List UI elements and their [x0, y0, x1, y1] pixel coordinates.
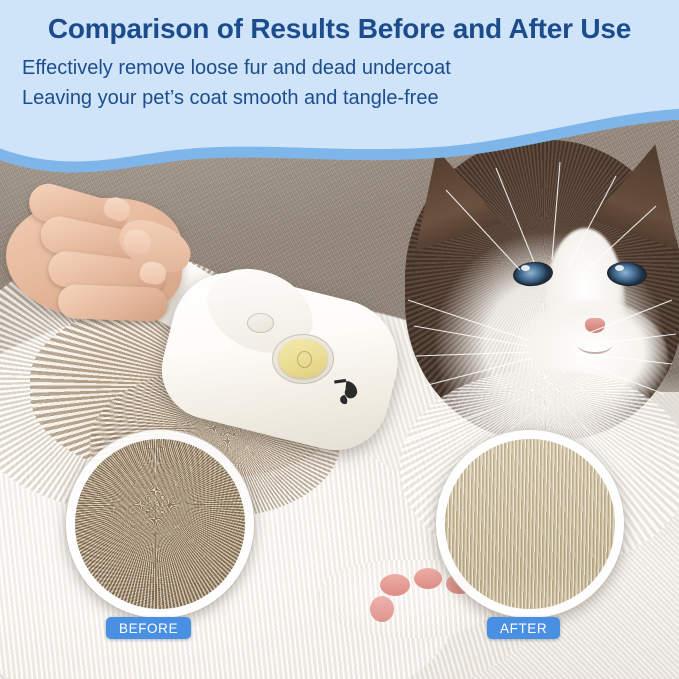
after-badge: AFTER [487, 617, 560, 639]
paw-bean [380, 574, 410, 596]
hand-finger [57, 284, 168, 322]
before-badge: BEFORE [106, 617, 191, 639]
header-subtitle-line-2: Leaving your pet’s coat smooth and tangl… [22, 87, 439, 110]
paw-bean [414, 568, 442, 589]
cat-mouth [578, 336, 612, 354]
after-fur-texture [436, 430, 624, 618]
header-subtitle-line-1: Effectively remove loose fur and dead un… [22, 57, 451, 80]
before-fur-texture [66, 430, 254, 618]
before-zoom-circle [66, 430, 254, 618]
after-zoom-circle [436, 430, 624, 618]
cat-eye-highlight-left [521, 265, 530, 271]
brand-logo-icon [327, 375, 362, 409]
cat-nose [585, 318, 605, 333]
cat-eye-highlight-right [615, 265, 624, 271]
brush-indicator-light [247, 313, 274, 333]
brush-button-glyph-icon [297, 351, 312, 368]
page-title: Comparison of Results Before and After U… [0, 13, 679, 45]
product-comparison-image: BEFORE AFTER Comparison of Results Befor… [0, 0, 679, 679]
paw-bean [370, 596, 394, 622]
